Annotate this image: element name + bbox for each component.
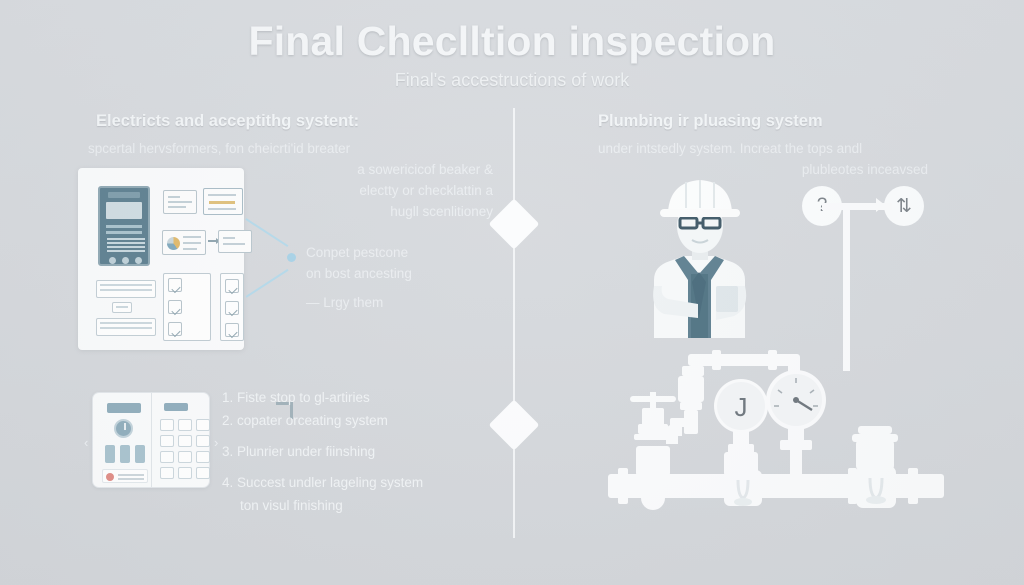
inspector-figure-illustration — [612, 168, 787, 338]
controller-slider-1 — [105, 445, 115, 463]
control-keypad-illustration — [92, 392, 210, 488]
j-gauge-label: J — [735, 392, 748, 422]
meter-device-icon — [98, 186, 150, 266]
chart-card-icon — [162, 230, 206, 255]
carousel-prev-icon[interactable]: ‹ — [84, 435, 88, 450]
checkbox-panel-right — [220, 273, 244, 341]
left-paragraph-line-1: spcertal hervsformers, fon cheicrti'id b… — [88, 138, 493, 159]
list-item: 1. Fiste stop to gl-artiries — [222, 386, 492, 409]
list-item: 2. copater orceating system — [222, 409, 492, 432]
plumbing-manifold-illustration: J — [608, 348, 944, 530]
checklist-badge — [112, 302, 132, 313]
checklist-grid-bottom — [96, 318, 156, 336]
page-subtitle: Final's accestructions of work — [0, 70, 1024, 91]
controller-slider-2 — [120, 445, 130, 463]
document-card-icon — [163, 190, 197, 214]
right-column-heading: Plumbing ir pluasing system — [598, 112, 823, 131]
controller-left-face — [93, 393, 151, 487]
output-card-icon — [218, 230, 252, 253]
callout-line-1: Conpet pestcone — [306, 242, 506, 263]
status-led-icon — [106, 473, 114, 481]
inspector-svg — [612, 168, 787, 338]
callout-line-3: — Lrgy them — [306, 292, 506, 313]
connector-line-lower — [246, 269, 289, 298]
carousel-next-icon[interactable]: › — [214, 435, 218, 450]
divider-diamond-bottom — [489, 400, 540, 451]
left-column-heading: Electricts and acceptithg systent: — [96, 112, 359, 131]
pipe-arrow-icon — [876, 198, 885, 212]
controller-slider-3 — [135, 445, 145, 463]
controller-mini-display — [164, 403, 188, 411]
connector-node — [287, 253, 296, 262]
controller-right-face — [152, 393, 210, 487]
list-item: 4. Succest undler lageling system — [222, 471, 492, 494]
pipe-vertical-riser — [843, 203, 850, 371]
list-item-continuation: ton visul finishing — [222, 494, 492, 517]
controller-display — [107, 403, 141, 413]
checklist-grid-top — [96, 280, 156, 298]
left-numbered-list: 1. Fiste stop to gl-artiries 2. copater … — [222, 386, 492, 517]
controller-status-row — [102, 469, 148, 483]
list-item: 3. Plunrier under fiinshing — [222, 440, 492, 463]
right-paragraph-line-1: under intstedly system. Increat the tops… — [598, 138, 928, 159]
center-divider-line — [513, 108, 515, 538]
plumbing-svg: J — [608, 348, 944, 530]
controller-dial-icon — [114, 419, 133, 438]
arrow-right-icon — [208, 240, 217, 242]
controller-keypad — [160, 419, 210, 479]
callout-line-2: on bost ancesting — [306, 263, 506, 284]
checkbox-panel-center — [163, 273, 211, 341]
slide-canvas: Final Checlltion inspection Final's acce… — [0, 0, 1024, 585]
electrical-panel-illustration — [78, 168, 244, 350]
page-title: Final Checlltion inspection — [0, 18, 1024, 65]
highlighted-card-icon — [203, 188, 243, 215]
left-callout: Conpet pestcone on bost ancesting — Lrgy… — [306, 242, 506, 313]
